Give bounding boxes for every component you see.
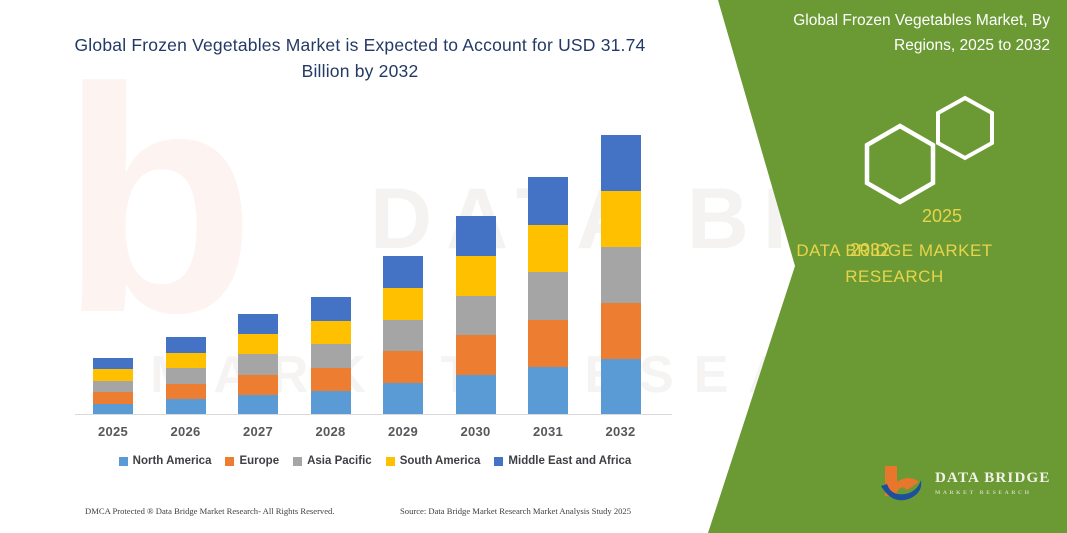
- bar-segment-europe[interactable]: [311, 368, 351, 392]
- footer-source: Source: Data Bridge Market Research Mark…: [400, 506, 631, 516]
- bar-segment-asia-pacific[interactable]: [166, 368, 206, 384]
- bar-chart-plot-area: [75, 110, 675, 415]
- bar-segment-south-america[interactable]: [528, 225, 568, 273]
- hexagon-2025-label: 2025: [922, 206, 962, 227]
- footer-copyright: DMCA Protected ® Data Bridge Market Rese…: [85, 506, 335, 516]
- bar-2032[interactable]: [601, 135, 641, 415]
- legend-item-north-america[interactable]: North America: [119, 455, 212, 467]
- bar-segment-asia-pacific[interactable]: [456, 296, 496, 336]
- legend-swatch-icon: [119, 457, 128, 466]
- bar-segment-middle-east-and-africa[interactable]: [93, 358, 133, 369]
- logo-mark-icon: [877, 462, 929, 508]
- x-axis-label-2030: 2030: [446, 424, 506, 439]
- bar-segment-south-america[interactable]: [238, 334, 278, 354]
- x-axis-label-2026: 2026: [156, 424, 216, 439]
- chart-baseline: [75, 414, 672, 415]
- x-axis-label-2032: 2032: [591, 424, 651, 439]
- brand-name: DATA BRIDGE MARKET RESEARCH: [722, 238, 1067, 290]
- bar-2029[interactable]: [383, 256, 423, 415]
- bar-segment-north-america[interactable]: [383, 383, 423, 415]
- x-axis-label-2028: 2028: [301, 424, 361, 439]
- bar-segment-middle-east-and-africa[interactable]: [601, 135, 641, 191]
- bar-segment-north-america[interactable]: [166, 399, 206, 415]
- legend-label: Europe: [239, 455, 279, 467]
- bar-segment-asia-pacific[interactable]: [311, 344, 351, 368]
- bar-segment-europe[interactable]: [601, 303, 641, 359]
- bar-segment-middle-east-and-africa[interactable]: [383, 256, 423, 288]
- bar-segment-middle-east-and-africa[interactable]: [311, 297, 351, 321]
- bar-segment-asia-pacific[interactable]: [601, 247, 641, 303]
- hexagon-2032-icon: [867, 126, 933, 202]
- logo-tagline: MARKET RESEARCH: [935, 490, 1032, 496]
- hexagon-icons: [722, 80, 1067, 230]
- bar-2027[interactable]: [238, 314, 278, 415]
- bar-segment-middle-east-and-africa[interactable]: [166, 337, 206, 353]
- chart-footer: DMCA Protected ® Data Bridge Market Rese…: [0, 506, 700, 526]
- bar-segment-asia-pacific[interactable]: [93, 381, 133, 392]
- legend-label: Asia Pacific: [307, 455, 372, 467]
- bar-segment-europe[interactable]: [383, 351, 423, 383]
- bar-segment-north-america[interactable]: [238, 395, 278, 415]
- data-bridge-logo: DATA BRIDGE MARKET RESEARCH: [877, 462, 1067, 520]
- legend-swatch-icon: [225, 457, 234, 466]
- bar-segment-south-america[interactable]: [311, 321, 351, 345]
- x-axis-label-2027: 2027: [228, 424, 288, 439]
- bar-segment-middle-east-and-africa[interactable]: [456, 216, 496, 256]
- bar-segment-middle-east-and-africa[interactable]: [238, 314, 278, 334]
- bar-segment-south-america[interactable]: [456, 256, 496, 296]
- bar-segment-north-america[interactable]: [528, 367, 568, 415]
- logo-wordmark: DATA BRIDGE: [935, 470, 1051, 487]
- legend-label: North America: [133, 455, 212, 467]
- chart-pane: Global Frozen Vegetables Market is Expec…: [0, 0, 720, 533]
- hexagon-2025-icon: [938, 98, 992, 158]
- legend-swatch-icon: [494, 457, 503, 466]
- x-axis-label-2029: 2029: [373, 424, 433, 439]
- bar-segment-asia-pacific[interactable]: [238, 354, 278, 374]
- bar-segment-north-america[interactable]: [601, 359, 641, 415]
- bar-segment-north-america[interactable]: [311, 391, 351, 415]
- legend-swatch-icon: [293, 457, 302, 466]
- legend-label: South America: [400, 455, 481, 467]
- x-axis-labels: 20252026202720282029203020312032: [75, 424, 675, 446]
- bar-segment-asia-pacific[interactable]: [383, 320, 423, 352]
- bar-segment-asia-pacific[interactable]: [528, 272, 568, 320]
- bar-segment-europe[interactable]: [166, 384, 206, 400]
- bar-segment-europe[interactable]: [238, 375, 278, 395]
- brand-line-1: DATA BRIDGE MARKET: [796, 241, 992, 260]
- bar-segment-south-america[interactable]: [166, 353, 206, 369]
- chart-legend: North AmericaEuropeAsia PacificSouth Ame…: [75, 455, 675, 467]
- legend-item-middle-east-and-africa[interactable]: Middle East and Africa: [494, 455, 631, 467]
- bar-segment-middle-east-and-africa[interactable]: [528, 177, 568, 225]
- bar-segment-europe[interactable]: [528, 320, 568, 368]
- bar-segment-south-america[interactable]: [93, 369, 133, 380]
- brand-line-2: RESEARCH: [845, 267, 943, 286]
- legend-swatch-icon: [386, 457, 395, 466]
- bar-segment-europe[interactable]: [93, 392, 133, 403]
- green-panel-content: Global Frozen Vegetables Market, By Regi…: [722, 0, 1067, 533]
- x-axis-label-2031: 2031: [518, 424, 578, 439]
- bar-2030[interactable]: [456, 216, 496, 415]
- panel-title: Global Frozen Vegetables Market, By Regi…: [732, 8, 1062, 58]
- bar-segment-north-america[interactable]: [456, 375, 496, 415]
- legend-item-asia-pacific[interactable]: Asia Pacific: [293, 455, 372, 467]
- bar-segment-south-america[interactable]: [383, 288, 423, 320]
- bar-2031[interactable]: [528, 177, 568, 415]
- bar-2025[interactable]: [93, 358, 133, 415]
- legend-label: Middle East and Africa: [508, 455, 631, 467]
- bar-2026[interactable]: [166, 337, 206, 415]
- infographic-root: b DATA BRIDGE MARKET RESEARCH Global Fro…: [0, 0, 1067, 533]
- x-axis-label-2025: 2025: [83, 424, 143, 439]
- legend-item-europe[interactable]: Europe: [225, 455, 279, 467]
- legend-item-south-america[interactable]: South America: [386, 455, 481, 467]
- chart-title: Global Frozen Vegetables Market is Expec…: [60, 32, 660, 84]
- bar-2028[interactable]: [311, 297, 351, 415]
- bar-segment-south-america[interactable]: [601, 191, 641, 247]
- hexagon-group: 2025 2032: [722, 80, 1067, 230]
- bar-segment-europe[interactable]: [456, 335, 496, 375]
